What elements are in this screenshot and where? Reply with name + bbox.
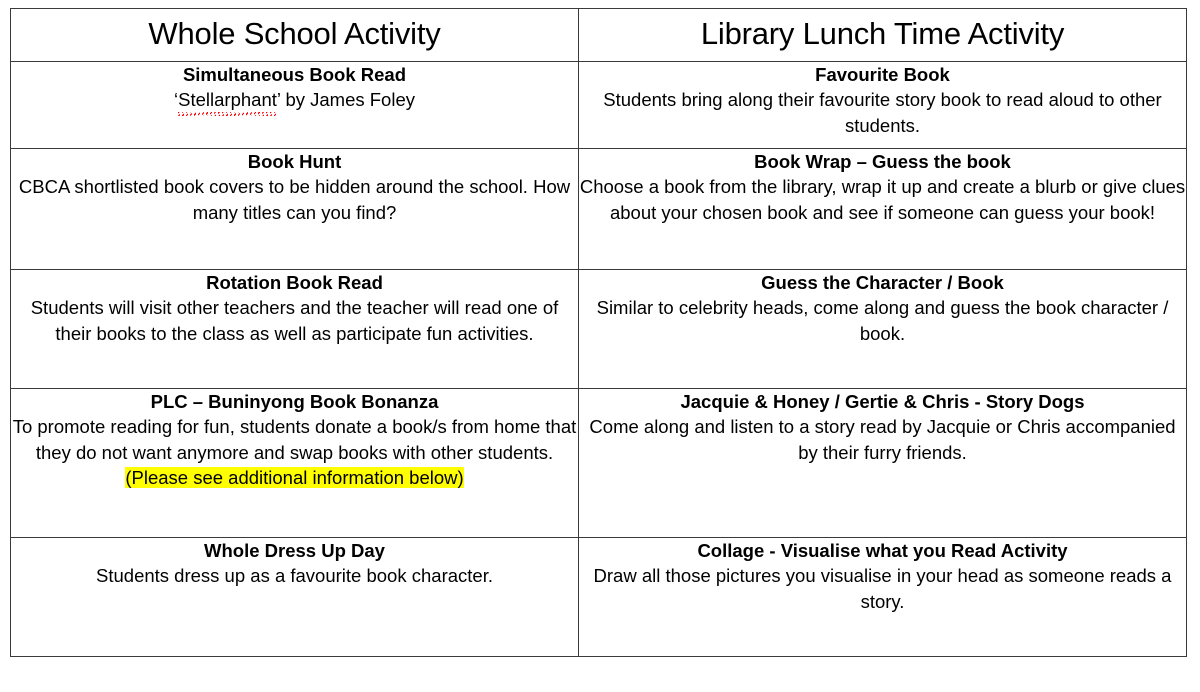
misspelled-word: Stellarphant <box>178 87 277 114</box>
description-text: To promote reading for fun, students don… <box>13 416 577 463</box>
cell-whole-school-2: Book Hunt CBCA shortlisted book covers t… <box>11 149 579 270</box>
activity-title: PLC – Buninyong Book Bonanza <box>11 389 578 414</box>
cell-library-lunch-2: Book Wrap – Guess the book Choose a book… <box>579 149 1187 270</box>
table-row: PLC – Buninyong Book Bonanza To promote … <box>11 389 1187 538</box>
cell-library-lunch-1: Favourite Book Students bring along thei… <box>579 62 1187 149</box>
activity-description: Choose a book from the library, wrap it … <box>579 174 1186 225</box>
table-row: Rotation Book Read Students will visit o… <box>11 270 1187 389</box>
activity-title: Simultaneous Book Read <box>11 62 578 87</box>
activity-description: Students bring along their favourite sto… <box>579 87 1186 138</box>
table-header-row: Whole School Activity Library Lunch Time… <box>11 9 1187 62</box>
activity-title: Rotation Book Read <box>11 270 578 295</box>
activity-description: Students will visit other teachers and t… <box>11 295 578 346</box>
activity-description: To promote reading for fun, students don… <box>11 414 578 491</box>
activities-table: Whole School Activity Library Lunch Time… <box>10 8 1187 657</box>
attribution-text: ’ by James Foley <box>277 89 415 110</box>
cell-whole-school-1: Simultaneous Book Read ‘Stellarphant’ by… <box>11 62 579 149</box>
cell-whole-school-3: Rotation Book Read Students will visit o… <box>11 270 579 389</box>
activity-title: Guess the Character / Book <box>579 270 1186 295</box>
activity-description: CBCA shortlisted book covers to be hidde… <box>11 174 578 225</box>
table-row: Book Hunt CBCA shortlisted book covers t… <box>11 149 1187 270</box>
cell-whole-school-4: PLC – Buninyong Book Bonanza To promote … <box>11 389 579 538</box>
activity-description: Students dress up as a favourite book ch… <box>11 563 578 589</box>
activity-description: Come along and listen to a story read by… <box>579 414 1186 465</box>
table-row: Whole Dress Up Day Students dress up as … <box>11 538 1187 657</box>
activity-description: ‘Stellarphant’ by James Foley <box>11 87 578 114</box>
activity-title: Book Hunt <box>11 149 578 174</box>
activity-title: Jacquie & Honey / Gertie & Chris - Story… <box>579 389 1186 414</box>
cell-whole-school-5: Whole Dress Up Day Students dress up as … <box>11 538 579 657</box>
cell-library-lunch-3: Guess the Character / Book Similar to ce… <box>579 270 1187 389</box>
highlighted-note: (Please see additional information below… <box>125 467 463 488</box>
column-header-whole-school-activity: Whole School Activity <box>11 9 579 62</box>
activity-description: Draw all those pictures you visualise in… <box>579 563 1186 614</box>
activity-description: Similar to celebrity heads, come along a… <box>579 295 1186 346</box>
activity-title: Whole Dress Up Day <box>11 538 578 563</box>
column-header-library-lunch-time-activity: Library Lunch Time Activity <box>579 9 1187 62</box>
cell-library-lunch-5: Collage - Visualise what you Read Activi… <box>579 538 1187 657</box>
cell-library-lunch-4: Jacquie & Honey / Gertie & Chris - Story… <box>579 389 1187 538</box>
document-page: Whole School Activity Library Lunch Time… <box>0 0 1200 692</box>
activity-title: Collage - Visualise what you Read Activi… <box>579 538 1186 563</box>
activity-title: Book Wrap – Guess the book <box>579 149 1186 174</box>
table-row: Simultaneous Book Read ‘Stellarphant’ by… <box>11 62 1187 149</box>
activity-title: Favourite Book <box>579 62 1186 87</box>
